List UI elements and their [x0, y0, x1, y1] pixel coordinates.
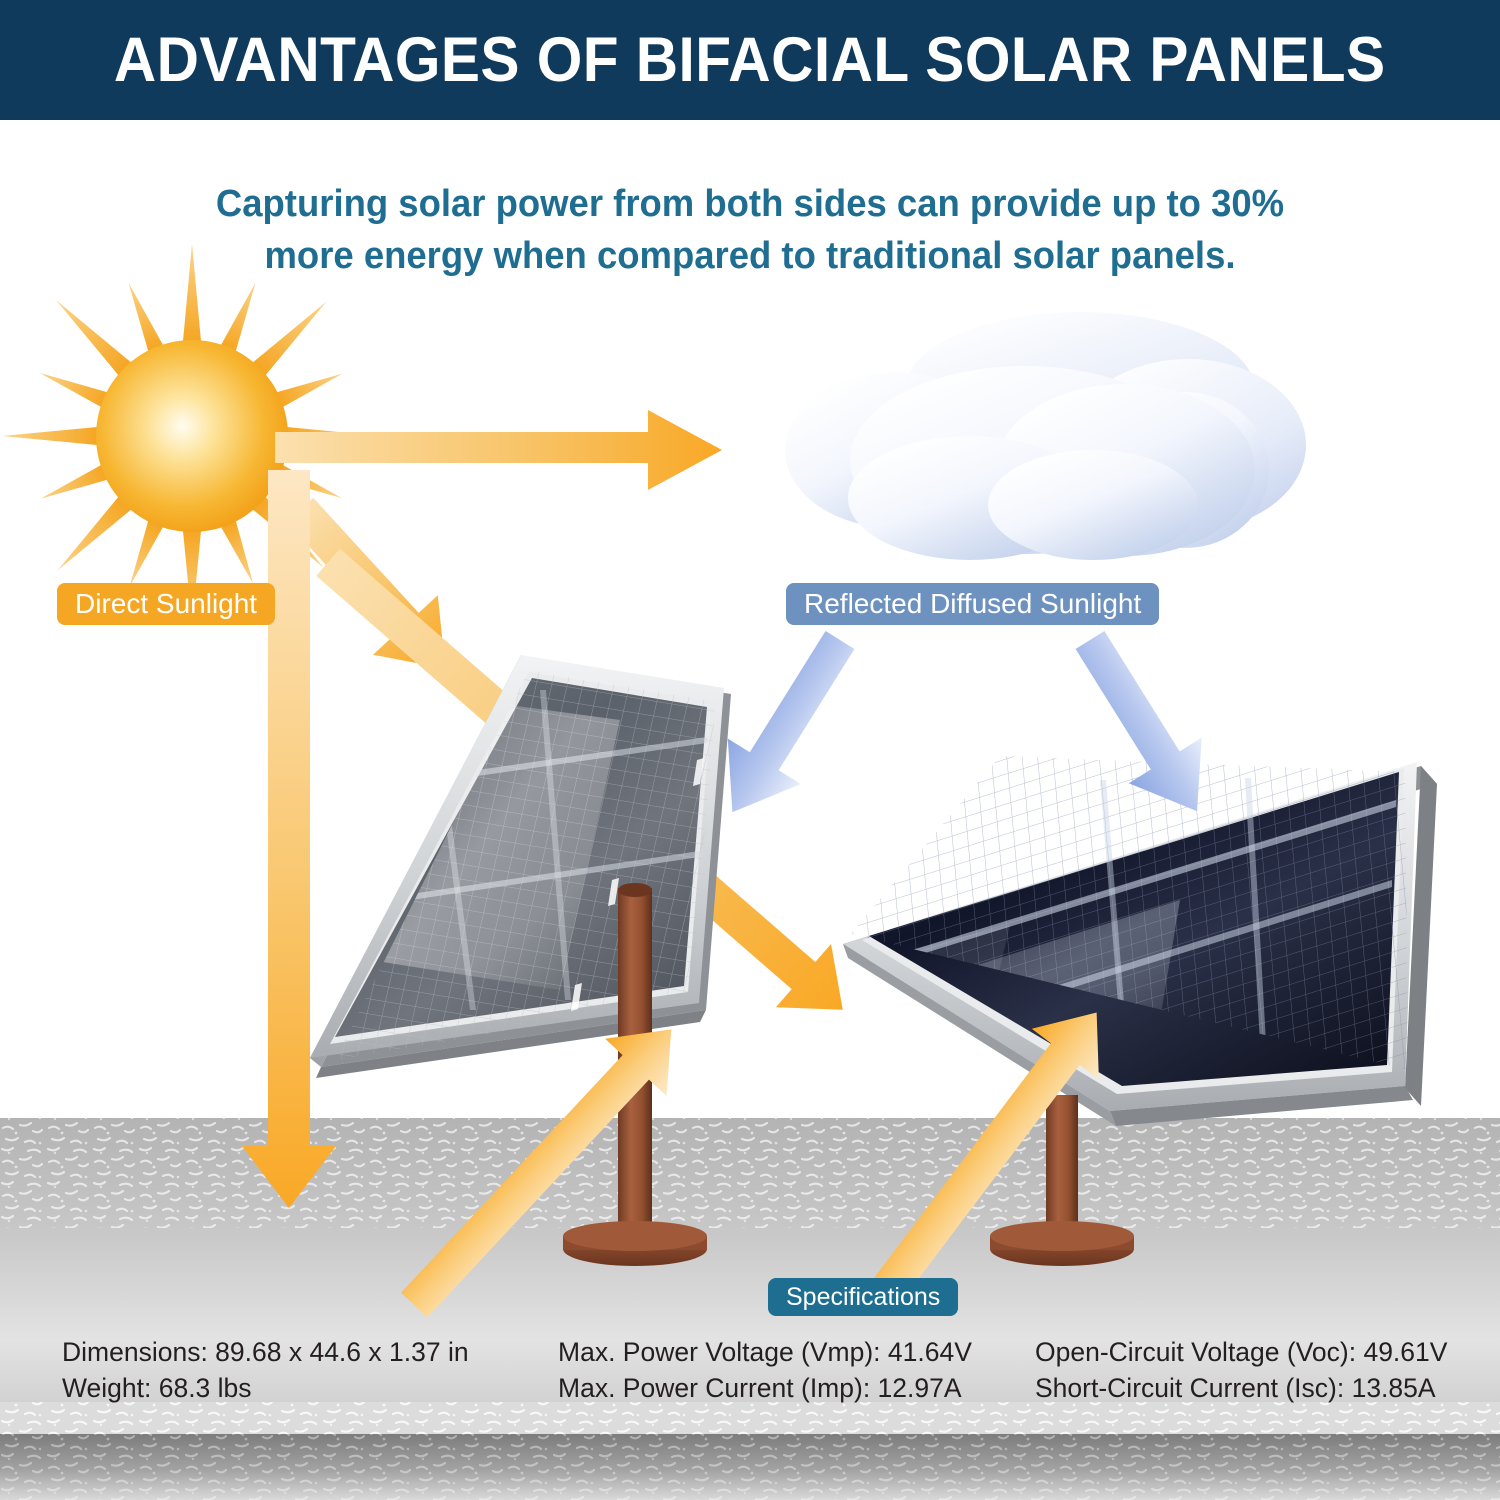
spec-column-circuit: Open-Circuit Voltage (Voc): 49.61V Short… [1035, 1334, 1447, 1406]
badge-specifications: Specifications [768, 1278, 958, 1316]
spec-line: Max. Power Current (Imp): 12.97A [558, 1370, 972, 1406]
badge-direct-sunlight: Direct Sunlight [57, 583, 275, 625]
header-banner: ADVANTAGES OF BIFACIAL SOLAR PANELS [0, 0, 1500, 120]
ground-surface [0, 1118, 1500, 1500]
spec-line: Short-Circuit Current (Isc): 13.85A [1035, 1370, 1447, 1406]
spec-column-dimensions: Dimensions: 89.68 x 44.6 x 1.37 in Weigh… [62, 1334, 469, 1406]
badge-reflected-diffused-sunlight: Reflected Diffused Sunlight [786, 583, 1159, 625]
spec-line: Max. Power Voltage (Vmp): 41.64V [558, 1334, 972, 1370]
sun-disc [96, 340, 288, 532]
subtitle-text: Capturing solar power from both sides ca… [136, 178, 1365, 282]
spec-line: Open-Circuit Voltage (Voc): 49.61V [1035, 1334, 1447, 1370]
spec-line: Dimensions: 89.68 x 44.6 x 1.37 in [62, 1334, 469, 1370]
subtitle-line-1: Capturing solar power from both sides ca… [216, 183, 1284, 225]
spec-line: Weight: 68.3 lbs [62, 1370, 469, 1406]
page-title: ADVANTAGES OF BIFACIAL SOLAR PANELS [114, 24, 1386, 96]
subtitle-line-2: more energy when compared to traditional… [264, 235, 1235, 277]
arrow-sun-to-cloud [275, 410, 722, 490]
spec-column-power: Max. Power Voltage (Vmp): 41.64V Max. Po… [558, 1334, 972, 1406]
cloud-icon [785, 312, 1306, 560]
infographic-canvas: ADVANTAGES OF BIFACIAL SOLAR PANELS Capt… [0, 0, 1500, 1500]
